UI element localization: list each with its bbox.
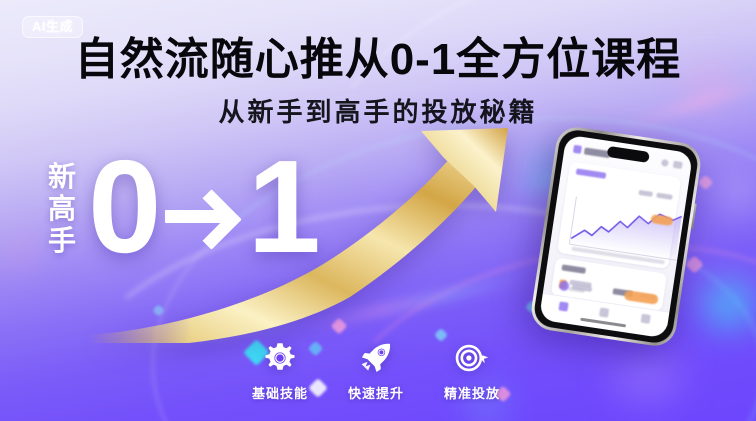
hero-digit-from: 0	[88, 150, 157, 264]
chart-legend-1	[638, 190, 653, 197]
right-arrow-icon	[165, 186, 239, 244]
chart-card-title	[576, 168, 607, 178]
feature-label: 基础技能	[252, 383, 308, 402]
list-card-title	[561, 264, 586, 273]
chart-card	[557, 161, 681, 269]
tab-profile-icon[interactable]	[641, 314, 651, 324]
vertical-tag-char-1: 新	[48, 163, 76, 191]
tab-home-icon[interactable]	[558, 301, 568, 311]
chart-legend-2	[656, 193, 673, 200]
vertical-tag: 新 高 手	[42, 163, 82, 255]
feature-list: 基础技能 快速提升 精准投放	[236, 341, 516, 402]
glow-cyan-right	[706, 285, 752, 325]
hero-digit-to: 1	[247, 150, 316, 264]
phone-power-button	[690, 203, 696, 229]
target-icon	[455, 341, 489, 375]
vertical-tag-char-2: 高	[48, 195, 76, 223]
app-header-action-2-icon	[673, 161, 683, 169]
gear-icon	[263, 341, 297, 375]
glow-violet-soft	[612, 352, 682, 402]
phone-mockup	[529, 124, 704, 348]
rocket-icon	[359, 341, 393, 375]
particle-diamond-pink-4	[685, 255, 703, 273]
zero-to-one-hero: 0 1	[88, 150, 317, 264]
feature-item-basic-skills[interactable]: 基础技能	[236, 341, 324, 402]
phone-bezel	[532, 128, 700, 346]
feature-label: 精准投放	[444, 383, 500, 402]
promotional-banner: AI生成 自然流随心推从0-1全方位课程 从新手到高手的投放秘籍 新 高 手	[0, 0, 756, 421]
phone-frame	[529, 124, 704, 348]
vertical-tag-char-3: 手	[48, 227, 76, 255]
phone-screen	[539, 135, 693, 339]
app-logo-icon	[573, 145, 582, 154]
feature-item-fast-growth[interactable]: 快速提升	[332, 341, 420, 402]
feature-item-precise-delivery[interactable]: 精准投放	[428, 341, 516, 402]
app-header-action-1-icon	[661, 159, 669, 167]
tab-data-icon[interactable]	[599, 307, 609, 317]
glow-white-right	[727, 186, 751, 206]
particle-diamond-pink-3	[698, 175, 714, 191]
page-title: 自然流随心推从0-1全方位课程	[0, 36, 756, 84]
glow-pink-left	[10, 243, 30, 261]
feature-label: 快速提升	[348, 383, 404, 402]
page-subtitle: 从新手到高手的投放秘籍	[0, 92, 756, 129]
ai-generated-watermark: AI生成	[22, 16, 83, 38]
